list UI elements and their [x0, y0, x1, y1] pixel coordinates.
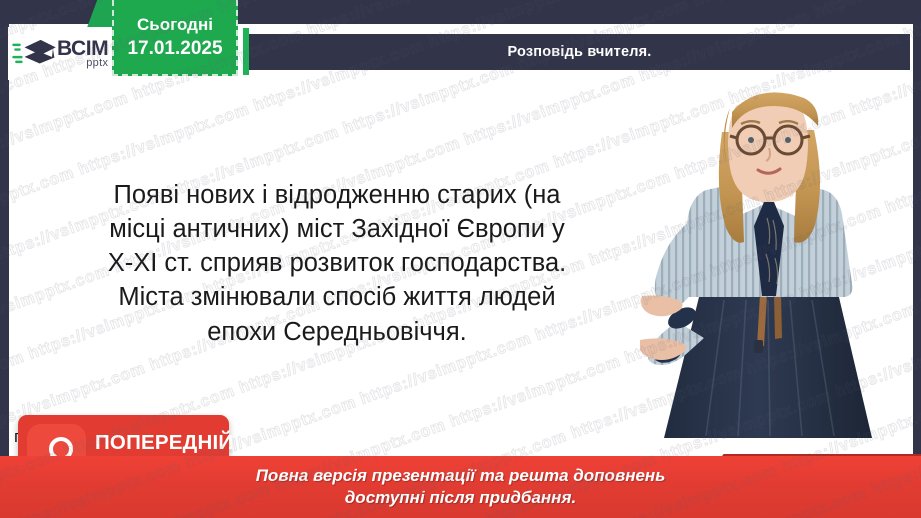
teacher-photo — [640, 78, 921, 450]
body-line: Міста змінювали спосіб життя людей — [22, 280, 652, 314]
body-line: X-XI ст. сприяв розвиток господарства. — [22, 246, 652, 280]
banner-line-1: Повна версія презентації та решта доповн… — [256, 466, 666, 486]
body-line: епохи Середньовіччя. — [22, 315, 652, 349]
preview-badge-line-1: ПОПЕРЕДНІЙ — [95, 433, 233, 454]
today-label: Сьогодні — [137, 15, 213, 35]
body-line: місці античних) міст Західної Європи у — [22, 212, 652, 246]
brand-logo: ВСІМ pptx — [8, 27, 125, 80]
slide-header-bar: Розповідь вчителя. — [249, 34, 910, 70]
presentation-slide: ВСІМ pptx Сьогодні 17.01.2025 Розповідь … — [0, 0, 921, 518]
graduation-cap-icon — [12, 37, 56, 71]
today-date-value: 17.01.2025 — [127, 38, 222, 60]
purchase-notice-banner: Повна версія презентації та решта доповн… — [0, 456, 921, 518]
logo-brand-text: ВСІМ — [57, 38, 108, 59]
slide-title: Розповідь вчителя. — [507, 44, 651, 60]
slide-body-text: Появі нових і відродженню старих (на міс… — [22, 178, 652, 349]
today-date-badge: Сьогодні 17.01.2025 — [112, 0, 238, 76]
body-line: Появі нових і відродженню старих (на — [22, 178, 652, 212]
banner-line-2: доступні після придбання. — [345, 488, 576, 508]
